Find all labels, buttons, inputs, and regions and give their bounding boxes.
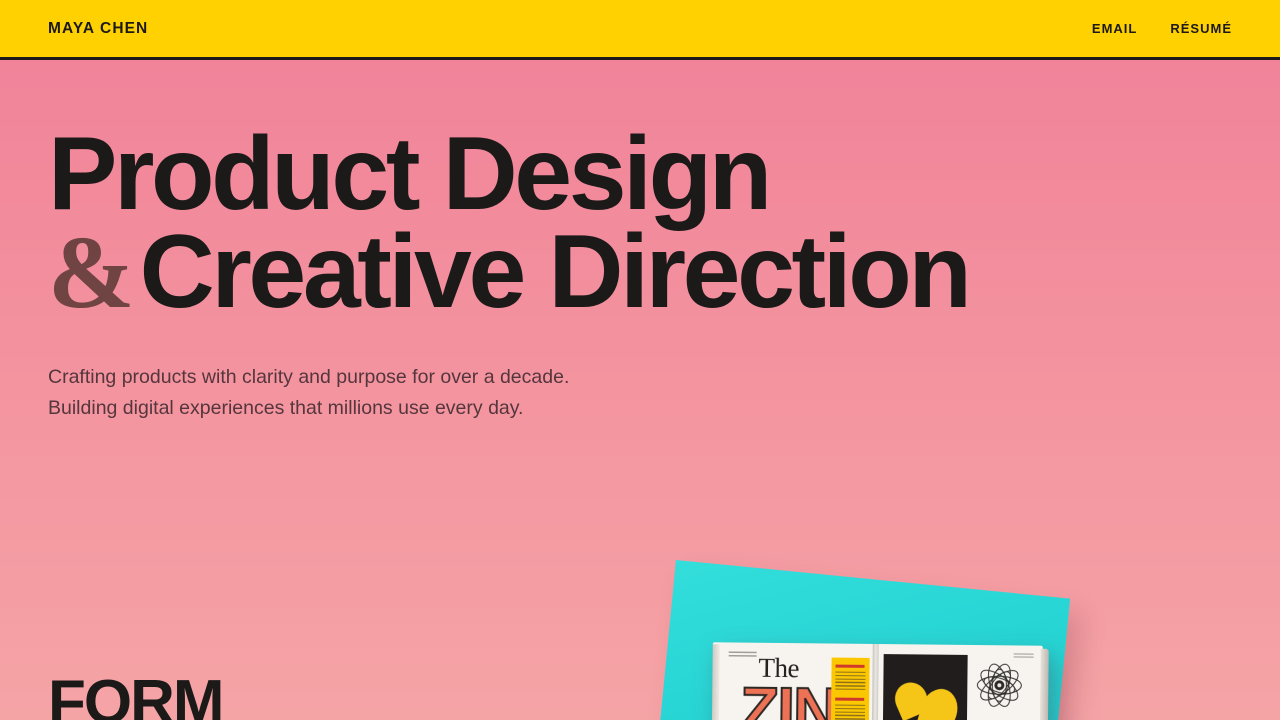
headline-line-two-text: Creative Direction [140,214,969,330]
magazine-spine [871,644,879,720]
ampersand-glyph: & [48,215,140,330]
magazine-left-page: The ZIN [711,642,876,720]
subtitle-line-two: Building digital experiences that millio… [48,393,1280,425]
page-edge-right [1039,649,1049,720]
headline-line-two: &Creative Direction [48,224,1280,322]
hero-section: Product Design &Creative Direction Craft… [0,60,1280,425]
nav-link-resume[interactable]: RÉSUMÉ [1170,21,1232,36]
section-heading-form: FORM [48,672,223,720]
hero-subtitle: Crafting products with clarity and purpo… [48,362,1280,425]
primary-nav: EMAIL RÉSUMÉ [1092,21,1232,36]
page-title: Product Design &Creative Direction [48,126,1280,322]
top-navigation-bar: MAYA CHEN EMAIL RÉSUMÉ [0,0,1280,60]
magazine-right-page [874,644,1043,720]
spirograph-icon [973,659,1026,712]
showcase-artwork[interactable]: The ZIN [672,556,1080,720]
brand-logo[interactable]: MAYA CHEN [48,20,148,38]
headline-line-one: Product Design [48,126,1280,224]
magazine-yellow-sidebar [830,658,869,720]
magazine-dark-panel [882,654,967,720]
magazine-masthead-lines [729,651,757,658]
magazine-spread-image: The ZIN [711,642,1043,720]
nav-link-email[interactable]: EMAIL [1092,21,1137,36]
subtitle-line-one: Crafting products with clarity and purpo… [48,362,1280,394]
magazine-word-zin: ZIN [740,681,838,720]
page-edge-left [711,644,720,720]
